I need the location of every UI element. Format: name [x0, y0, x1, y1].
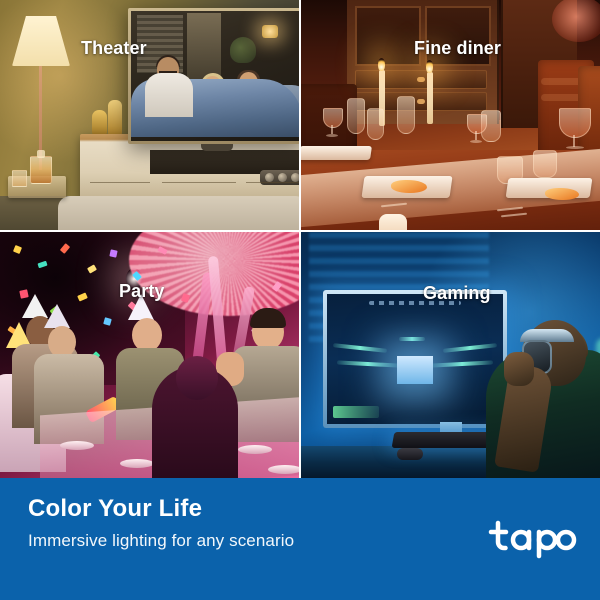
band-subtitle: Immersive lighting for any scenario [28, 531, 294, 551]
fine-diner-scene-photo [301, 0, 600, 230]
party-scene-photo [0, 232, 299, 478]
tapo-lighting-poster: Theater [0, 0, 600, 600]
water-glass [367, 108, 384, 140]
wine-glass-foot [566, 146, 584, 149]
candle-flame-icon [426, 60, 433, 73]
game-hud-bar [333, 406, 379, 418]
tv-screen [131, 11, 299, 141]
whisky-decanter [30, 156, 52, 184]
gaming-monitor [323, 290, 507, 428]
wine-glass [467, 114, 485, 144]
guest-hair [250, 308, 286, 328]
tumbler [533, 150, 557, 178]
scenario-grid: Theater [0, 0, 600, 478]
wine-glass-stem [475, 131, 477, 140]
drawer-seam [162, 182, 236, 183]
player-hand [504, 352, 534, 386]
speaker-driver-icon [278, 173, 287, 182]
tapo-logo [487, 519, 577, 559]
tv-scene-curtain [187, 13, 221, 79]
speaker-driver-icon [291, 173, 299, 182]
dinner-plate [301, 146, 372, 160]
party-hat-icon [44, 304, 70, 328]
drawer-seam [90, 182, 150, 183]
confetti-piece [109, 249, 117, 257]
cabinet-glass-door [355, 6, 421, 66]
wine-glass-bowl [559, 108, 591, 138]
sofa [58, 196, 299, 230]
wine-glass-stem [331, 125, 333, 134]
wine-glass-bowl [323, 108, 343, 128]
game-corridor-light [333, 343, 387, 353]
party-plate [238, 445, 272, 454]
wine-glass [323, 108, 341, 138]
game-corridor-light [337, 360, 399, 367]
tv-stand [201, 144, 233, 151]
party-plate [120, 459, 154, 468]
plated-food [391, 180, 427, 193]
gaming-scene-photo [301, 232, 600, 478]
water-glass [347, 98, 365, 134]
mouse [397, 448, 423, 460]
drawer-knob-icon [417, 99, 425, 104]
scenario-label-gaming: Gaming [423, 283, 491, 304]
scenario-tile-fine-diner[interactable]: Fine diner [301, 0, 600, 230]
scenario-tile-gaming[interactable]: Gaming [301, 232, 600, 478]
plated-food [545, 188, 579, 200]
drawer-seam [246, 182, 299, 183]
speaker-driver-icon [265, 173, 274, 182]
water-glass [397, 96, 415, 134]
band-headline: Color Your Life [28, 495, 202, 523]
scenario-label-fine-diner: Fine diner [414, 38, 501, 59]
console-niche [150, 150, 299, 174]
decor-vase-tall [108, 100, 122, 136]
party-plate [268, 465, 299, 474]
table-vase [379, 214, 407, 230]
scenario-label-theater: Theater [81, 38, 147, 59]
game-corridor-light [431, 360, 493, 367]
theater-scene-photo [0, 0, 299, 230]
tv-scene-lamp [262, 25, 278, 38]
wine-glass-foot [326, 134, 338, 137]
decor-vase-small [92, 110, 107, 136]
scenario-tile-theater[interactable]: Theater [0, 0, 299, 230]
candle-right [427, 72, 433, 124]
tv-scene-plant [230, 37, 256, 63]
game-corridor-light [443, 343, 497, 353]
wine-glass [559, 108, 589, 152]
candle-flame-icon [378, 58, 385, 71]
drawer-knob-icon [417, 77, 425, 82]
party-plate [60, 441, 94, 450]
wine-glass-foot [470, 140, 482, 143]
cabinet-drawer [355, 70, 487, 89]
game-corridor-light [399, 337, 425, 341]
wine-glass-bowl [467, 114, 487, 134]
tv-scene-person-body [145, 73, 193, 117]
game-corridor-end [397, 356, 433, 384]
scenario-tile-party[interactable]: Party [0, 232, 299, 478]
television [128, 8, 299, 144]
scenario-label-party: Party [119, 281, 165, 302]
sideboard-cabinet [347, 0, 499, 124]
foreground-guest-head [176, 356, 218, 400]
monitor-screen [327, 294, 503, 424]
whisky-glass [12, 170, 27, 187]
guest-head [132, 318, 162, 352]
